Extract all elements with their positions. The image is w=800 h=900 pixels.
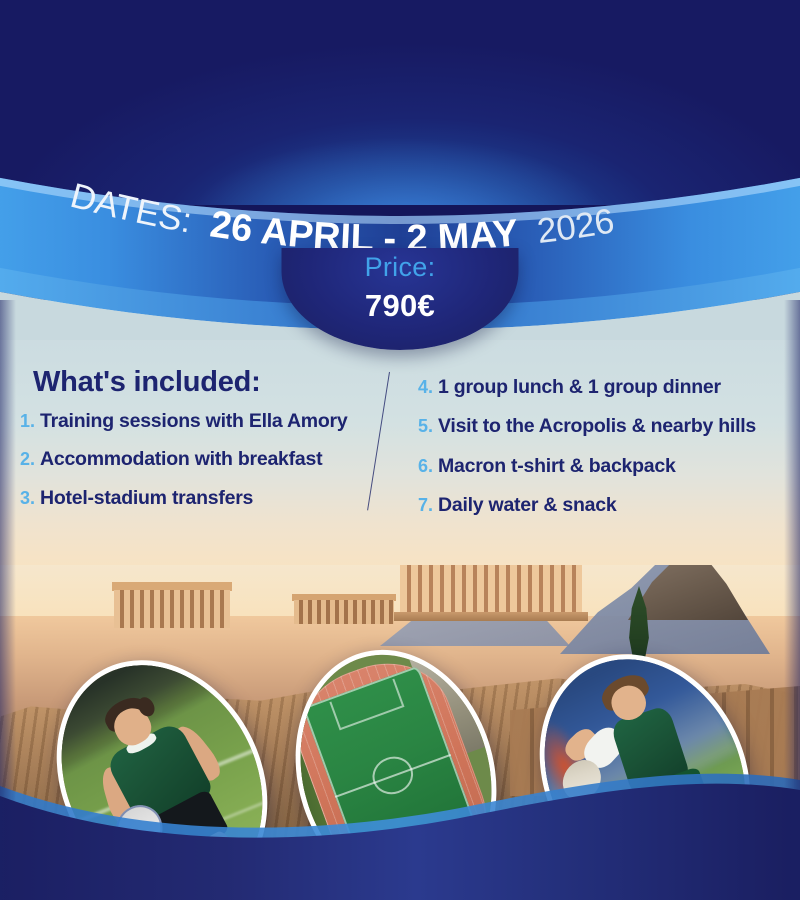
list-item-label: Macron t-shirt & backpack xyxy=(438,455,676,477)
list-item-number: 5. xyxy=(418,416,433,437)
included-list-left: 1. Training sessions with Ella Amory 2. … xyxy=(20,410,372,525)
included-list-right: 4. 1 group lunch & 1 group dinner 5. Vis… xyxy=(418,376,790,534)
list-item: 4. 1 group lunch & 1 group dinner xyxy=(418,376,790,398)
left-edge-vignette xyxy=(0,300,16,900)
list-item: 6. Macron t-shirt & backpack xyxy=(418,455,790,477)
list-item-label: Hotel-stadium transfers xyxy=(40,487,253,509)
list-item-number: 2. xyxy=(20,449,35,470)
right-edge-vignette xyxy=(784,300,800,900)
included-heading: What's included: xyxy=(33,366,261,399)
list-item-label: Accommodation with breakfast xyxy=(40,448,322,470)
list-item: 1. Training sessions with Ella Amory xyxy=(20,410,372,432)
list-item-label: 1 group lunch & 1 group dinner xyxy=(438,376,721,398)
list-item-label: Visit to the Acropolis & nearby hills xyxy=(438,415,756,437)
price-label: Price: xyxy=(282,252,519,283)
list-item: 2. Accommodation with breakfast xyxy=(20,448,372,470)
list-item-label: Daily water & snack xyxy=(438,494,616,516)
price-value: 790€ xyxy=(282,288,519,324)
list-item-number: 7. xyxy=(418,495,433,516)
list-item-number: 4. xyxy=(418,377,433,398)
footer-wave xyxy=(0,750,800,900)
list-item-number: 6. xyxy=(418,456,433,477)
erechtheion-temple xyxy=(112,582,232,630)
list-item: 5. Visit to the Acropolis & nearby hills xyxy=(418,415,790,437)
list-item-number: 3. xyxy=(20,488,35,509)
parthenon-base xyxy=(394,612,588,621)
temple-columns xyxy=(114,590,230,628)
list-item: 3. Hotel-stadium transfers xyxy=(20,487,372,509)
poster: ELLA'S RUGBY CAMP ATHENS GREECE EDITION xyxy=(0,0,800,900)
temple-columns xyxy=(294,600,394,624)
list-item-label: Training sessions with Ella Amory xyxy=(40,410,347,432)
list-item: 7. Daily water & snack xyxy=(418,494,790,516)
list-item-number: 1. xyxy=(20,411,35,432)
propylaea-temple xyxy=(292,594,396,624)
